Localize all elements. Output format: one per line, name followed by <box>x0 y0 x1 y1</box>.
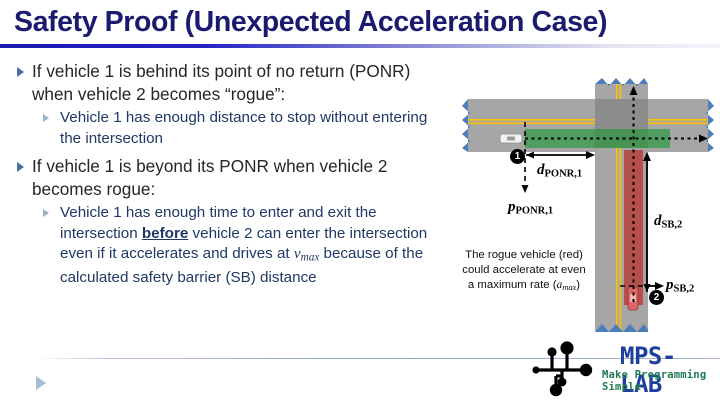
bullet-level2-1: Vehicle 1 has enough distance to stop wi… <box>8 108 440 149</box>
horizontal-road <box>468 99 708 152</box>
d-ponr-1-arrowhead <box>586 151 595 159</box>
logo-tagline: Make Programming Simple <box>602 369 716 393</box>
caption-line-3: a maximum rate (amax) <box>446 278 602 295</box>
bullet-level1-1: If vehicle 1 is behind its point of no r… <box>8 60 440 106</box>
ponr-1-arrowhead <box>522 185 529 193</box>
d-ponr-1-arrow-tail <box>526 152 534 159</box>
title-block: Safety Proof (Unexpected Acceleration Ca… <box>0 0 720 48</box>
bullet-list: If vehicle 1 is behind its point of no r… <box>8 60 440 290</box>
slide-root: Safety Proof (Unexpected Acceleration Ca… <box>0 0 720 405</box>
bullet-triangle-icon <box>43 114 49 122</box>
p-sb-2-arrowhead <box>655 282 664 290</box>
caption-line-2: could accelerate at even <box>446 263 602 278</box>
vehicle-1-icon <box>500 134 522 143</box>
lane-marking-icon <box>468 123 708 125</box>
vehicle-1-marker: 1 <box>510 149 525 164</box>
label-d-ponr-1-base: d <box>537 162 545 178</box>
math-vmax-subscript: max <box>301 251 320 263</box>
label-p-sb-2-sub: SB,2 <box>674 284 695 295</box>
mps-lab-logo: MPS-LAB Make Programming Simple <box>524 340 716 398</box>
label-d-sb-2-base: d <box>654 213 662 229</box>
label-d-sb-2: dSB,2 <box>654 213 682 231</box>
label-d-ponr-1: dPONR,1 <box>537 162 582 180</box>
math-vmax-base: v <box>294 245 301 262</box>
bullet-text: If vehicle 1 is behind its point of no r… <box>32 61 410 104</box>
caption-line-3-pre: a maximum rate ( <box>468 279 557 291</box>
bullet-triangle-icon <box>43 209 49 217</box>
page-title: Safety Proof (Unexpected Acceleration Ca… <box>14 2 607 42</box>
intersection-box <box>595 99 648 129</box>
math-amax-subscript: max <box>562 282 576 292</box>
label-p-sb-2-base: p <box>666 277 674 293</box>
vehicle-2-icon <box>628 287 638 310</box>
logo-node <box>560 341 573 354</box>
logo-node <box>550 384 562 396</box>
label-p-ponr-1: pPONR,1 <box>508 199 553 217</box>
diagram-caption: The rogue vehicle (red) could accelerate… <box>446 248 602 295</box>
bullet-text: Vehicle 1 has enough distance to stop wi… <box>60 109 427 147</box>
bullet-triangle-icon <box>17 162 24 172</box>
logo-node <box>547 347 556 356</box>
vehicle-2-marker: 2 <box>649 290 664 305</box>
next-slide-triangle-icon[interactable] <box>36 376 46 390</box>
label-d-ponr-1-sub: PONR,1 <box>545 169 583 180</box>
bullet-triangle-icon <box>17 67 24 77</box>
logo-node <box>532 366 539 373</box>
bullet-level1-2: If vehicle 1 is beyond its PONR when veh… <box>8 155 440 201</box>
label-p-ponr-1-sub: PONR,1 <box>516 206 554 217</box>
bullet-emphasis-before: before <box>142 225 188 242</box>
caption-line-3-post: ) <box>576 279 580 291</box>
title-divider <box>0 44 720 48</box>
label-p-ponr-1-base: p <box>508 199 516 215</box>
bullet-level2-2: Vehicle 1 has enough time to enter and e… <box>8 203 440 288</box>
intersection-clear-zone <box>595 129 648 148</box>
caption-line-1: The rogue vehicle (red) <box>446 248 602 263</box>
label-p-sb-2: pSB,2 <box>666 277 694 295</box>
lane-marking-icon <box>468 119 708 121</box>
label-d-sb-2-sub: SB,2 <box>662 220 683 231</box>
vehicle-1-window <box>507 137 515 141</box>
logo-node <box>580 364 592 376</box>
bullet-text: If vehicle 1 is beyond its PONR when veh… <box>32 156 387 199</box>
